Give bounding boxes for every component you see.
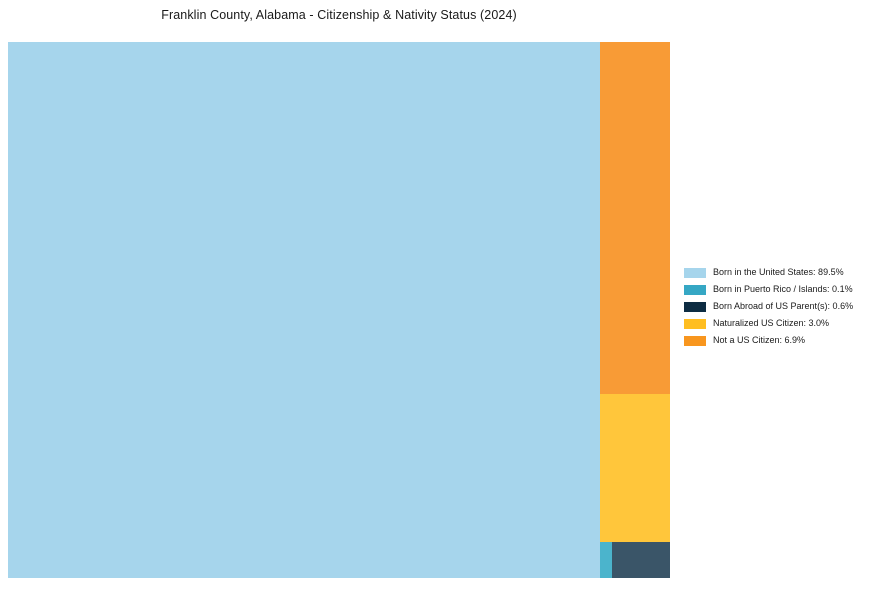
legend-item-born-in-puerto-rico[interactable]: Born in Puerto Rico / Islands: 0.1% [684, 281, 884, 298]
legend-item-label: Born in the United States: 89.5% [713, 267, 844, 278]
legend-item-not-a-us-citizen[interactable]: Not a US Citizen: 6.9% [684, 332, 884, 349]
legend-item-label: Born Abroad of US Parent(s): 0.6% [713, 301, 853, 312]
legend-swatch-icon [684, 302, 706, 312]
legend-swatch-icon [684, 336, 706, 346]
legend-item-naturalized-us-citizen[interactable]: Naturalized US Citizen: 3.0% [684, 315, 884, 332]
treemap-plot-area [8, 42, 670, 578]
chart-title: Franklin County, Alabama - Citizenship &… [0, 8, 678, 22]
legend-item-label: Naturalized US Citizen: 3.0% [713, 318, 829, 329]
legend-swatch-icon [684, 268, 706, 278]
chart-legend: Born in the United States: 89.5% Born in… [684, 264, 884, 349]
treemap-tile-born-in-the-united-states[interactable] [8, 42, 600, 578]
treemap-tile-naturalized-us-citizen[interactable] [600, 394, 670, 542]
treemap-tile-born-in-puerto-rico[interactable] [600, 542, 612, 578]
legend-swatch-icon [684, 285, 706, 295]
treemap-chart-figure: Franklin County, Alabama - Citizenship &… [0, 0, 889, 590]
legend-item-label: Not a US Citizen: 6.9% [713, 335, 805, 346]
legend-swatch-icon [684, 319, 706, 329]
treemap-tile-not-a-us-citizen[interactable] [600, 42, 670, 394]
legend-item-born-in-the-united-states[interactable]: Born in the United States: 89.5% [684, 264, 884, 281]
legend-item-born-abroad-of-us-parents[interactable]: Born Abroad of US Parent(s): 0.6% [684, 298, 884, 315]
treemap-tile-born-abroad-of-us-parents[interactable] [612, 542, 670, 578]
legend-item-label: Born in Puerto Rico / Islands: 0.1% [713, 284, 853, 295]
